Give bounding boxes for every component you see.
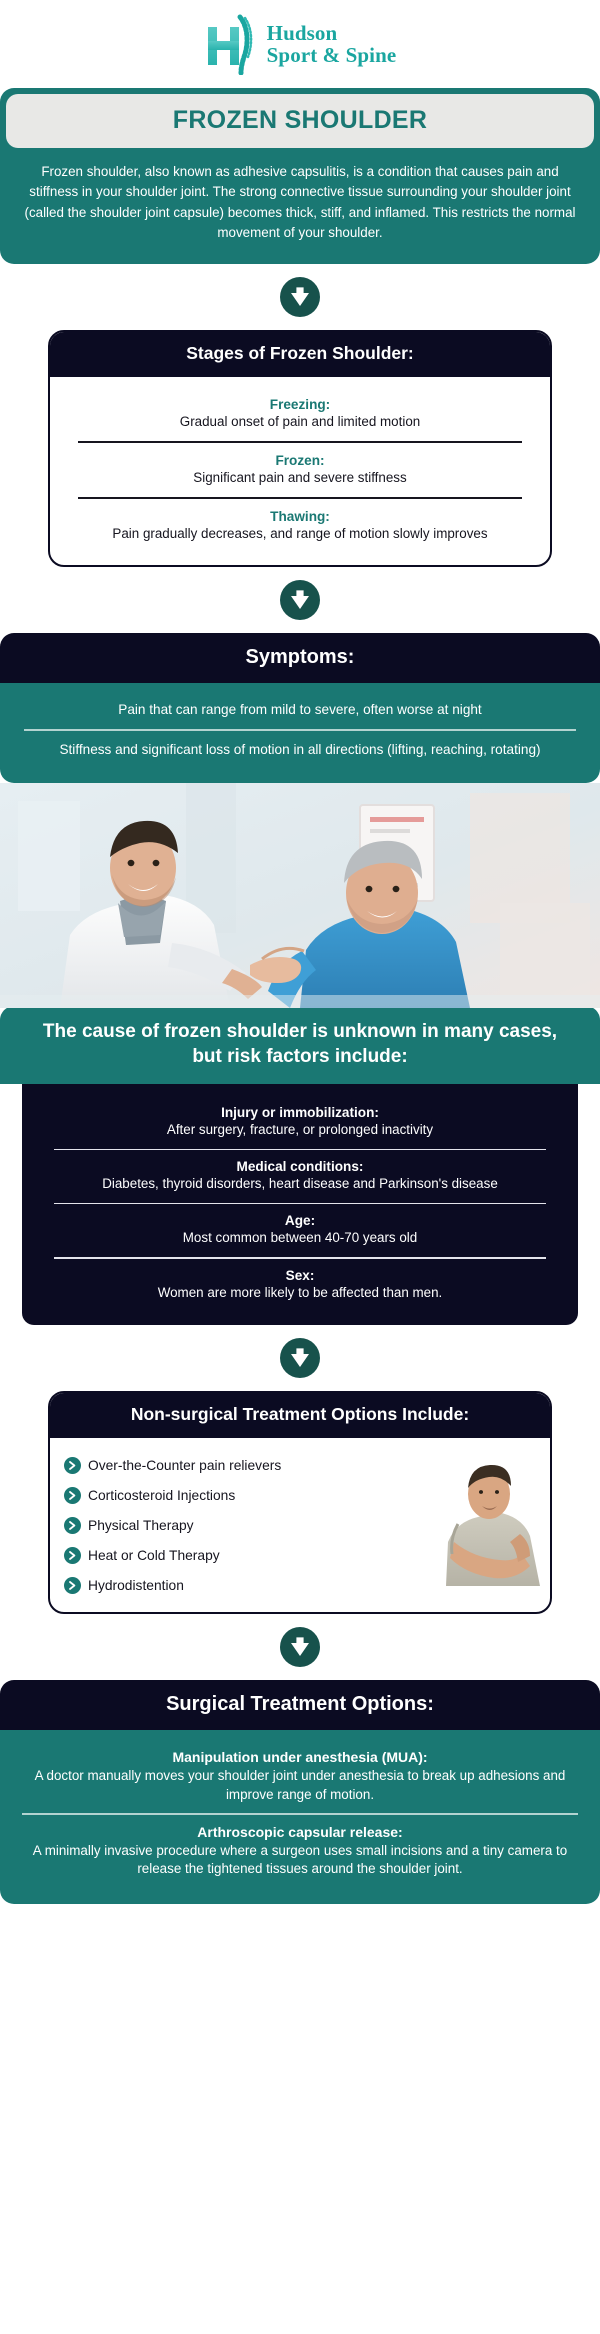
clinic-photo	[0, 783, 600, 1008]
bottom-spacer	[0, 1904, 600, 1910]
arrow-connector-2	[0, 567, 600, 633]
stage-term: Frozen:	[72, 453, 528, 468]
chevron-right-bullet-icon	[64, 1487, 81, 1504]
symptoms-section: Symptoms: Pain that can range from mild …	[0, 633, 600, 783]
list-item-label: Physical Therapy	[88, 1518, 194, 1533]
nonsurgical-list: Over-the-Counter pain relievers Corticos…	[64, 1450, 432, 1600]
nonsurgical-heading: Non-surgical Treatment Options Include:	[49, 1392, 551, 1438]
chevron-right-bullet-icon	[64, 1577, 81, 1594]
surgical-desc: A minimally invasive procedure where a s…	[20, 1842, 580, 1879]
risk-item: Age: Most common between 40-70 years old	[52, 1204, 548, 1257]
down-arrow-icon	[280, 1338, 320, 1378]
risk-desc: Most common between 40-70 years old	[54, 1229, 546, 1247]
hero-panel: FROZEN SHOULDER Frozen shoulder, also kn…	[0, 88, 600, 264]
symptom-item: Stiffness and significant loss of motion…	[16, 731, 584, 769]
surgical-list: Manipulation under anesthesia (MUA): A d…	[0, 1730, 600, 1903]
shoulder-pain-photo	[432, 1464, 544, 1586]
risk-term: Injury or immobilization:	[54, 1105, 546, 1120]
surgical-term: Manipulation under anesthesia (MUA):	[20, 1749, 580, 1765]
chevron-right-bullet-icon	[64, 1517, 81, 1534]
list-item: Hydrodistention	[64, 1570, 432, 1600]
symptom-item: Pain that can range from mild to severe,…	[16, 691, 584, 729]
surgical-term: Arthroscopic capsular release:	[20, 1824, 580, 1840]
infographic-page: Hudson Sport & Spine FROZEN SHOULDER Fro…	[0, 0, 600, 1910]
stage-term: Freezing:	[72, 397, 528, 412]
stage-desc: Significant pain and severe stiffness	[72, 469, 528, 486]
risk-term: Sex:	[54, 1268, 546, 1283]
risk-factors-list: Injury or immobilization: After surgery,…	[22, 1084, 578, 1325]
stages-list: Freezing: Gradual onset of pain and limi…	[50, 377, 550, 565]
hero-body-text: Frozen shoulder, also known as adhesive …	[0, 148, 600, 248]
divider	[24, 729, 576, 730]
brand-line-2: Sport & Spine	[267, 44, 397, 66]
stage-desc: Pain gradually decreases, and range of m…	[72, 525, 528, 542]
risk-desc: Women are more likely to be affected tha…	[54, 1284, 546, 1302]
down-arrow-icon	[280, 1627, 320, 1667]
risk-term: Medical conditions:	[54, 1159, 546, 1174]
causes-heading: The cause of frozen shoulder is unknown …	[0, 1006, 600, 1084]
surgical-heading: Surgical Treatment Options:	[0, 1680, 600, 1730]
risk-desc: After surgery, fracture, or prolonged in…	[54, 1121, 546, 1139]
clinic-photo-illustration	[0, 783, 600, 1008]
stages-card: Stages of Frozen Shoulder: Freezing: Gra…	[48, 330, 552, 567]
brand-name: Hudson Sport & Spine	[267, 22, 397, 67]
risk-desc: Diabetes, thyroid disorders, heart disea…	[54, 1175, 546, 1193]
list-item: Over-the-Counter pain relievers	[64, 1450, 432, 1480]
divider	[78, 441, 522, 443]
stages-heading: Stages of Frozen Shoulder:	[49, 331, 551, 377]
stage-desc: Gradual onset of pain and limited motion	[72, 413, 528, 430]
down-arrow-icon	[280, 580, 320, 620]
symptoms-list: Pain that can range from mild to severe,…	[0, 683, 600, 783]
risk-term: Age:	[54, 1213, 546, 1228]
surgical-section: Surgical Treatment Options: Manipulation…	[0, 1680, 600, 1903]
list-item: Physical Therapy	[64, 1510, 432, 1540]
brand-line-1: Hudson	[267, 22, 397, 44]
list-item: Heat or Cold Therapy	[64, 1540, 432, 1570]
symptoms-heading: Symptoms:	[0, 633, 600, 683]
surgical-desc: A doctor manually moves your shoulder jo…	[20, 1767, 580, 1804]
chevron-right-bullet-icon	[64, 1457, 81, 1474]
divider	[22, 1813, 578, 1814]
divider	[78, 497, 522, 499]
surgical-item: Arthroscopic capsular release: A minimal…	[14, 1815, 586, 1888]
causes-section: The cause of frozen shoulder is unknown …	[0, 1006, 600, 1325]
arrow-connector-3	[0, 1325, 600, 1391]
arrow-connector-1	[0, 264, 600, 330]
risk-item: Injury or immobilization: After surgery,…	[52, 1096, 548, 1149]
page-title: FROZEN SHOULDER	[6, 94, 594, 148]
surgical-item: Manipulation under anesthesia (MUA): A d…	[14, 1740, 586, 1813]
stage-term: Thawing:	[72, 509, 528, 524]
stage-item: Freezing: Gradual onset of pain and limi…	[68, 389, 532, 439]
list-item-label: Heat or Cold Therapy	[88, 1548, 220, 1563]
down-arrow-icon	[280, 277, 320, 317]
list-item-label: Corticosteroid Injections	[88, 1488, 235, 1503]
list-item-label: Hydrodistention	[88, 1578, 184, 1593]
stage-item: Thawing: Pain gradually decreases, and r…	[68, 501, 532, 551]
arrow-connector-4	[0, 1614, 600, 1680]
stage-item: Frozen: Significant pain and severe stif…	[68, 445, 532, 495]
risk-item: Medical conditions: Diabetes, thyroid di…	[52, 1150, 548, 1203]
nonsurgical-body: Over-the-Counter pain relievers Corticos…	[50, 1438, 550, 1612]
risk-item: Sex: Women are more likely to be affecte…	[52, 1259, 548, 1312]
brand-logo: Hudson Sport & Spine	[0, 0, 600, 88]
chevron-right-bullet-icon	[64, 1547, 81, 1564]
h-spine-logo-icon	[204, 13, 258, 75]
list-item-label: Over-the-Counter pain relievers	[88, 1458, 281, 1473]
list-item: Corticosteroid Injections	[64, 1480, 432, 1510]
nonsurgical-card: Non-surgical Treatment Options Include: …	[48, 1391, 552, 1614]
